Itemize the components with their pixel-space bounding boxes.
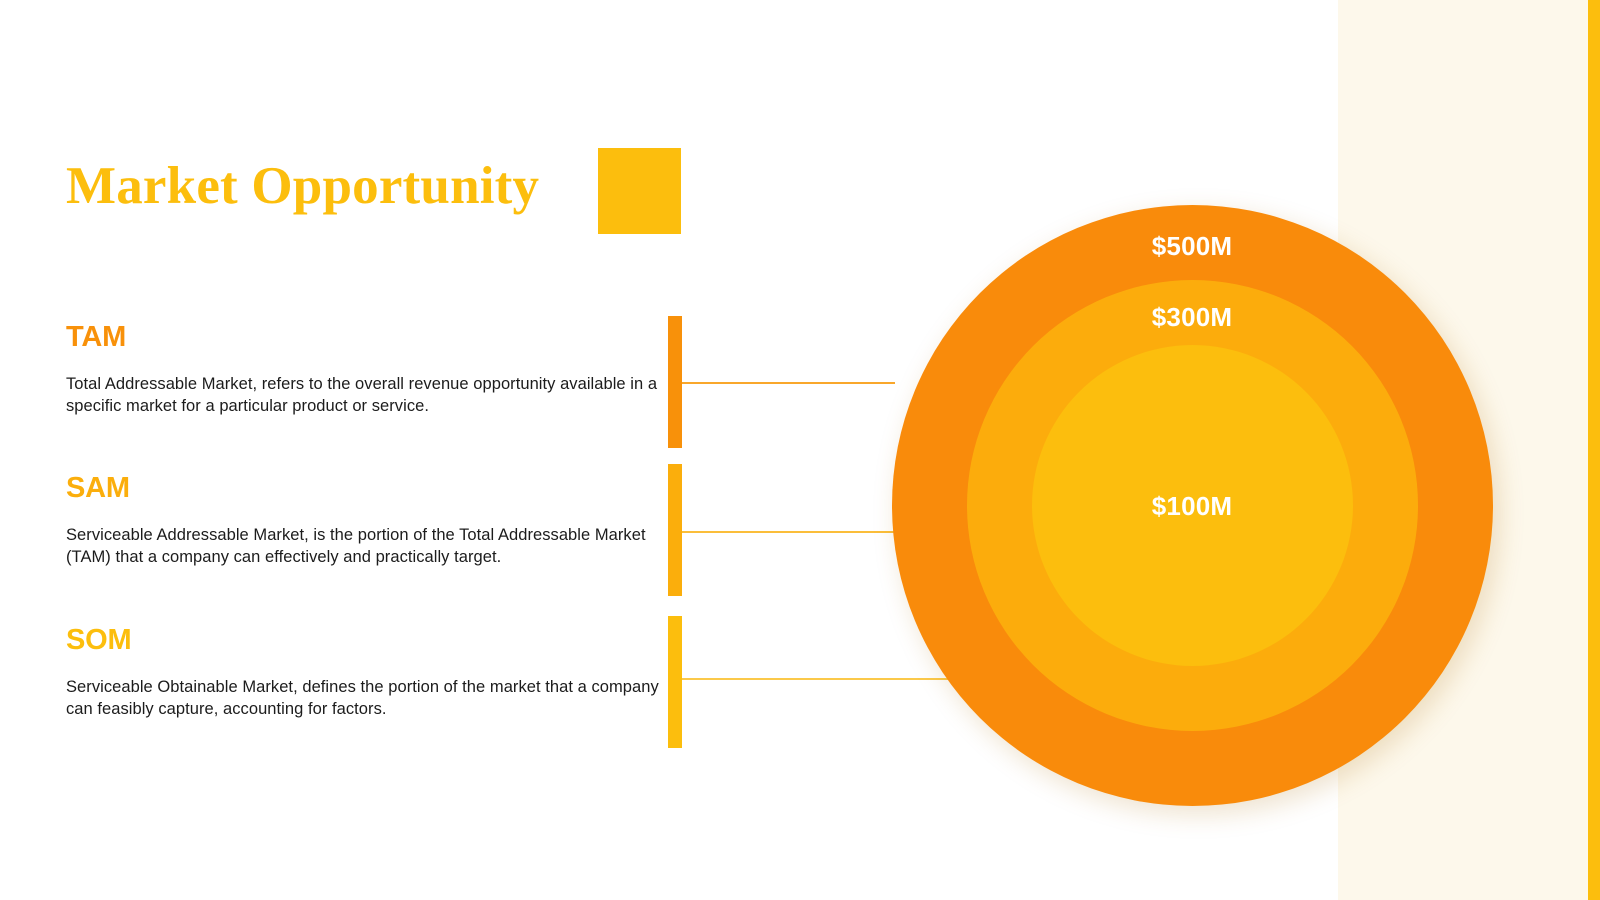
- item-body-som: Serviceable Obtainable Market, defines t…: [66, 677, 666, 721]
- connector-line-tam: [682, 382, 895, 384]
- list-item-tam: TAM Total Addressable Market, refers to …: [66, 322, 666, 418]
- list-item-sam: SAM Serviceable Addressable Market, is t…: [66, 473, 666, 569]
- item-body-tam: Total Addressable Market, refers to the …: [66, 374, 666, 418]
- title-accent-square: [598, 148, 681, 234]
- item-body-sam: Serviceable Addressable Market, is the p…: [66, 525, 666, 569]
- marker-bar-som: [668, 616, 682, 748]
- right-edge-accent-bar: [1588, 0, 1600, 900]
- list-item-som: SOM Serviceable Obtainable Market, defin…: [66, 625, 666, 721]
- marker-bar-tam: [668, 316, 682, 448]
- marker-bar-sam: [668, 464, 682, 596]
- chart-label-tam: $500M: [1042, 231, 1342, 262]
- page-title: Market Opportunity: [66, 160, 539, 213]
- item-heading-som: SOM: [66, 625, 666, 657]
- item-heading-tam: TAM: [66, 322, 666, 354]
- chart-label-som: $100M: [1042, 491, 1342, 522]
- item-heading-sam: SAM: [66, 473, 666, 505]
- slide-canvas: Market Opportunity TAM Total Addressable…: [0, 0, 1600, 900]
- chart-label-sam: $300M: [1042, 302, 1342, 333]
